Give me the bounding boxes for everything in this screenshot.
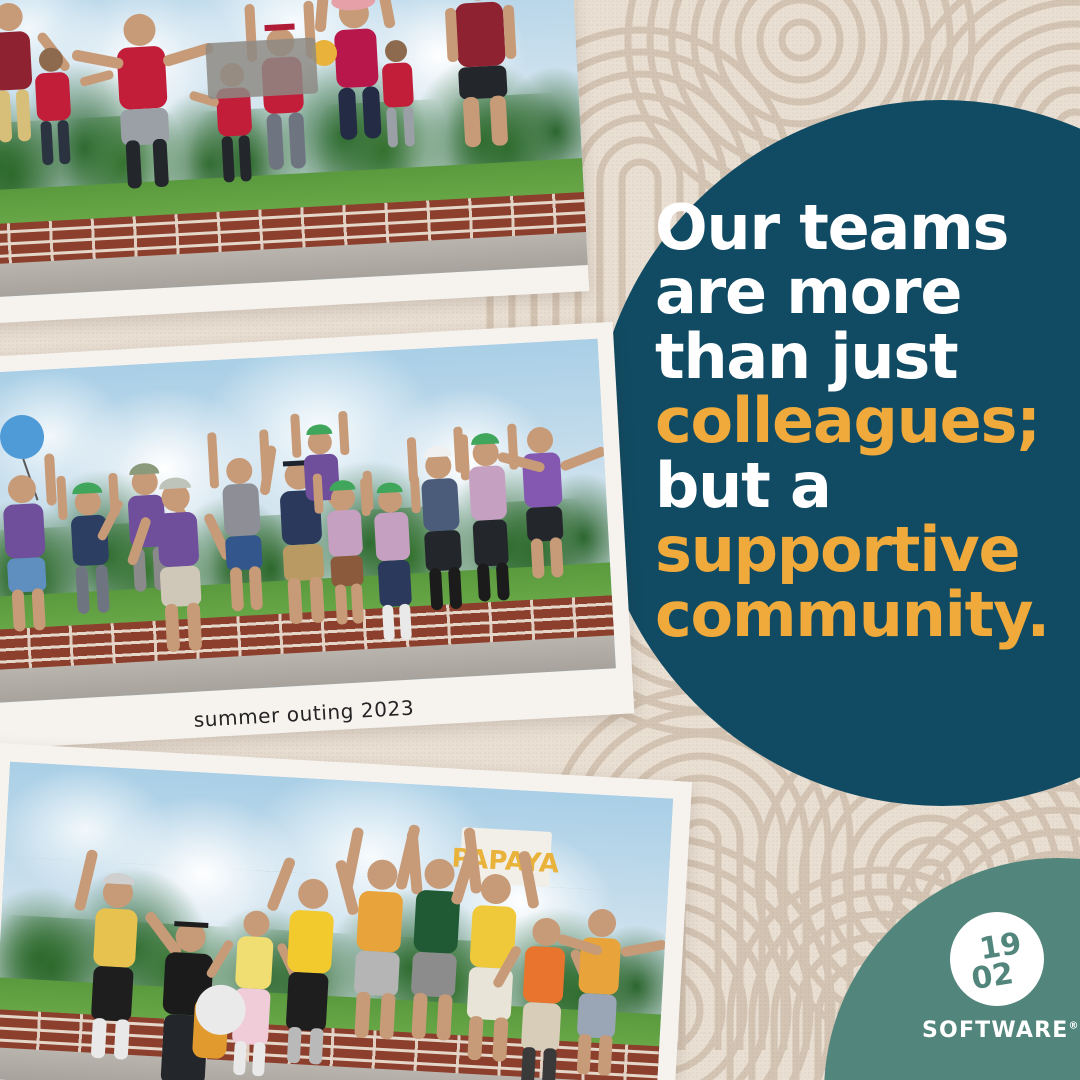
headline-line-4: colleagues; xyxy=(655,389,1055,453)
photo-yellow-team: PAPAYA xyxy=(0,762,673,1080)
poster-canvas: Our teams are more than just colleagues;… xyxy=(0,0,1080,1080)
red-team-figures xyxy=(0,0,588,299)
headline-line-6: supportive xyxy=(655,518,1055,582)
registered-trademark-symbol: ® xyxy=(1068,1021,1079,1032)
purple-team-figures xyxy=(0,339,616,704)
photo-card-red-team xyxy=(0,0,589,325)
logo-1902-mark: 19 02 xyxy=(950,912,1044,1006)
headline-line-7: community. xyxy=(655,583,1055,647)
logo-mark-bottom: 02 xyxy=(969,956,1016,997)
photo-card-yellow-team: PAPAYA xyxy=(0,743,692,1080)
headline-line-5: but a xyxy=(655,454,1055,518)
headline-line-3: than just xyxy=(655,325,1055,389)
headline-line-2: are more xyxy=(655,260,1055,324)
logo-wordmark-text: SOFTWARE xyxy=(922,1018,1068,1043)
photo-red-team xyxy=(0,0,588,299)
brand-logo: 19 02 SOFTWARE® xyxy=(922,912,1072,1043)
logo-wordmark: SOFTWARE® xyxy=(922,1018,1080,1043)
blue-balloon xyxy=(0,414,45,460)
yellow-team-figures: PAPAYA xyxy=(0,762,673,1080)
headline-line-1: Our teams xyxy=(655,196,1055,260)
photo-card-purple-team: summer outing 2023 xyxy=(0,322,634,750)
photo-purple-team xyxy=(0,339,616,704)
headline: Our teams are more than just colleagues;… xyxy=(655,196,1055,647)
